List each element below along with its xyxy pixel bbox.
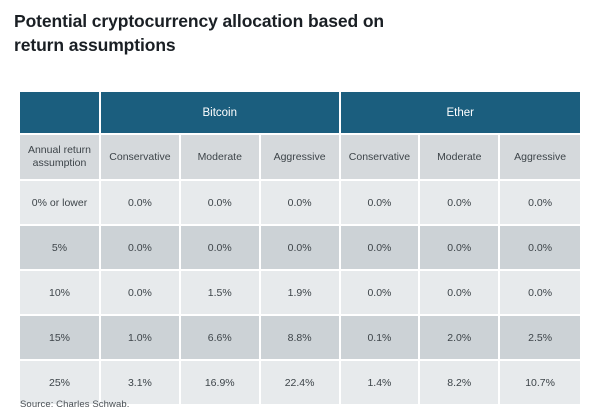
cell-bitcoin-conservative: 0.0% xyxy=(101,271,181,316)
table-row: 15% 1.0% 6.6% 8.8% 0.1% 2.0% 2.5% xyxy=(20,316,580,361)
table-row: 0% or lower 0.0% 0.0% 0.0% 0.0% 0.0% 0.0… xyxy=(20,181,580,226)
page-title-line-2: return assumptions xyxy=(14,33,534,57)
row-label: 0% or lower xyxy=(20,181,101,226)
column-header-ether-moderate: Moderate xyxy=(420,135,500,181)
cell-ether-conservative: 0.0% xyxy=(341,181,421,226)
cell-ether-aggressive: 0.0% xyxy=(500,181,580,226)
cell-bitcoin-conservative: 3.1% xyxy=(101,361,181,404)
row-label: 25% xyxy=(20,361,101,404)
cell-bitcoin-moderate: 16.9% xyxy=(181,361,261,404)
cell-bitcoin-aggressive: 0.0% xyxy=(261,226,341,271)
cell-ether-moderate: 0.0% xyxy=(420,271,500,316)
column-header-bitcoin-conservative: Conservative xyxy=(101,135,181,181)
cell-ether-aggressive: 0.0% xyxy=(500,226,580,271)
cell-bitcoin-moderate: 0.0% xyxy=(181,226,261,271)
figure-container: Potential cryptocurrency allocation base… xyxy=(0,0,600,417)
cell-bitcoin-aggressive: 8.8% xyxy=(261,316,341,361)
column-header-bitcoin-aggressive: Aggressive xyxy=(261,135,341,181)
cell-bitcoin-aggressive: 22.4% xyxy=(261,361,341,404)
cell-ether-aggressive: 2.5% xyxy=(500,316,580,361)
cell-ether-moderate: 0.0% xyxy=(420,181,500,226)
cell-ether-conservative: 0.1% xyxy=(341,316,421,361)
group-header-ether: Ether xyxy=(341,92,581,135)
page-title: Potential cryptocurrency allocation base… xyxy=(14,9,534,57)
table-row: 10% 0.0% 1.5% 1.9% 0.0% 0.0% 0.0% xyxy=(20,271,580,316)
cell-bitcoin-aggressive: 1.9% xyxy=(261,271,341,316)
cell-bitcoin-conservative: 0.0% xyxy=(101,226,181,271)
cell-bitcoin-moderate: 1.5% xyxy=(181,271,261,316)
cell-bitcoin-conservative: 0.0% xyxy=(101,181,181,226)
column-header-ether-aggressive: Aggressive xyxy=(500,135,580,181)
allocation-table-wrapper: Bitcoin Ether Annual return assumption C… xyxy=(20,92,580,404)
row-label: 5% xyxy=(20,226,101,271)
cell-ether-moderate: 0.0% xyxy=(420,226,500,271)
cell-ether-moderate: 8.2% xyxy=(420,361,500,404)
cell-ether-conservative: 0.0% xyxy=(341,271,421,316)
cell-bitcoin-moderate: 0.0% xyxy=(181,181,261,226)
row-label: 10% xyxy=(20,271,101,316)
group-header-blank xyxy=(20,92,101,135)
cell-bitcoin-conservative: 1.0% xyxy=(101,316,181,361)
column-header-ether-conservative: Conservative xyxy=(341,135,421,181)
cell-bitcoin-moderate: 6.6% xyxy=(181,316,261,361)
page-title-line-1: Potential cryptocurrency allocation base… xyxy=(14,9,534,33)
allocation-table: Bitcoin Ether Annual return assumption C… xyxy=(20,92,580,404)
row-label: 15% xyxy=(20,316,101,361)
group-header-row: Bitcoin Ether xyxy=(20,92,580,135)
source-caption: Source: Charles Schwab. xyxy=(20,399,130,410)
cell-ether-conservative: 1.4% xyxy=(341,361,421,404)
column-header-row: Annual return assumption Conservative Mo… xyxy=(20,135,580,181)
cell-ether-aggressive: 10.7% xyxy=(500,361,580,404)
cell-ether-conservative: 0.0% xyxy=(341,226,421,271)
group-header-bitcoin: Bitcoin xyxy=(101,92,341,135)
table-row: 25% 3.1% 16.9% 22.4% 1.4% 8.2% 10.7% xyxy=(20,361,580,404)
column-header-annual-return-assumption: Annual return assumption xyxy=(20,135,101,181)
table-head: Bitcoin Ether Annual return assumption C… xyxy=(20,92,580,181)
column-header-line-2: assumption xyxy=(22,157,97,170)
cell-bitcoin-aggressive: 0.0% xyxy=(261,181,341,226)
cell-ether-aggressive: 0.0% xyxy=(500,271,580,316)
table-body: 0% or lower 0.0% 0.0% 0.0% 0.0% 0.0% 0.0… xyxy=(20,181,580,404)
column-header-line-1: Annual return xyxy=(22,144,97,157)
column-header-bitcoin-moderate: Moderate xyxy=(181,135,261,181)
cell-ether-moderate: 2.0% xyxy=(420,316,500,361)
table-row: 5% 0.0% 0.0% 0.0% 0.0% 0.0% 0.0% xyxy=(20,226,580,271)
